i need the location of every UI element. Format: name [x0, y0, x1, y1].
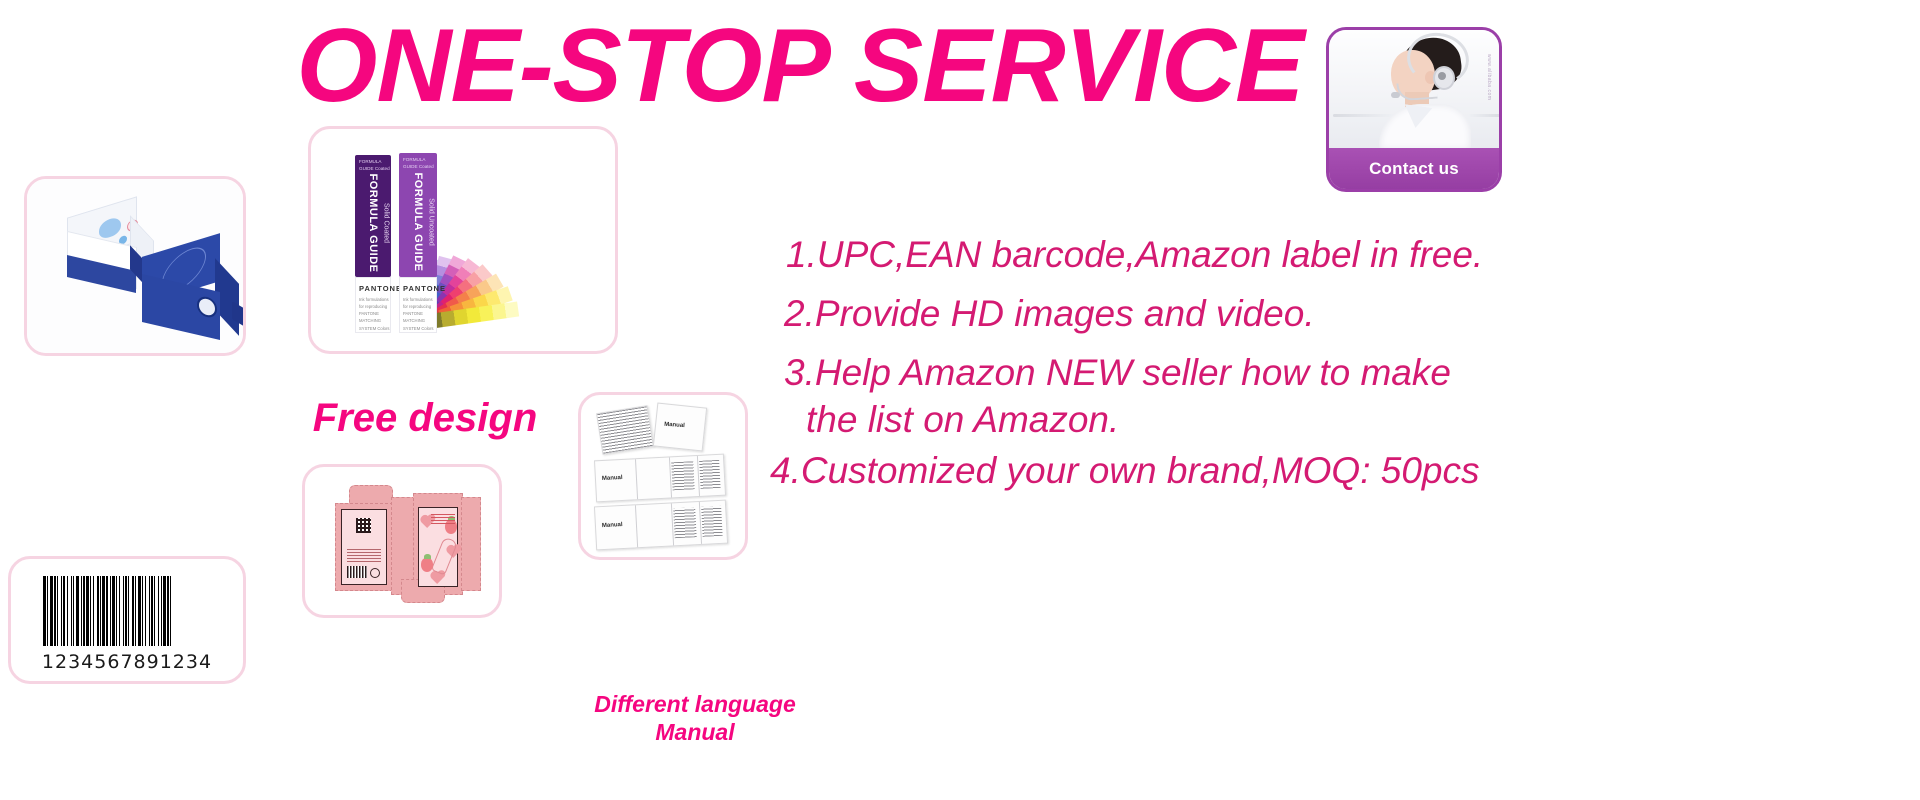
- pantone-fan-blades: [429, 149, 607, 337]
- pantone-coated-meta: Ink formulations for reproducing PANTONE…: [359, 296, 390, 332]
- barcode-bars: [43, 576, 215, 646]
- contact-us-card[interactable]: www.alibaba.com Contact us: [1326, 27, 1502, 192]
- headset-boom-icon: [1396, 81, 1437, 102]
- product-box-photo: [24, 176, 246, 356]
- dieline-qr-code: [356, 518, 371, 533]
- dieline-recycle-icon: [370, 568, 380, 578]
- manual-fold-word-2: Manual: [602, 522, 623, 529]
- dieline-strawberry-icon-2: [421, 558, 433, 572]
- contact-us-button[interactable]: Contact us: [1329, 148, 1499, 189]
- manual-caption: Different language Manual: [560, 690, 830, 746]
- headset-mic-icon: [1391, 92, 1400, 98]
- pantone-coated-footer: PANTONE Ink formulations for reproducing…: [355, 277, 391, 333]
- feature-item-2: 2.Provide HD images and video.: [784, 295, 1910, 332]
- contact-us-label: Contact us: [1369, 159, 1459, 179]
- barcode-number: 1234567891234: [11, 651, 243, 673]
- dieline-info-panel: [341, 509, 387, 585]
- service-feature-list: 1.UPC,EAN barcode,Amazon label in free. …: [770, 236, 1910, 489]
- pantone-brand-label: PANTONE: [359, 284, 402, 293]
- pantone-coated-title: FORMULA GUIDE: [367, 174, 379, 273]
- manual-cover-word: Manual: [664, 422, 685, 429]
- feature-item-4: 4.Customized your own brand,MOQ: 50pcs: [770, 452, 1910, 489]
- box-illustration: [27, 179, 243, 353]
- manual-fold-text-3: [673, 507, 697, 538]
- background-shelf-line-2: [1469, 114, 1501, 117]
- manual-fold-text-2: [699, 460, 720, 489]
- pantone-brand-label-2: PANTONE: [403, 284, 446, 293]
- pantone-uncoated-cap-note: FORMULA GUIDE Coated: [403, 157, 437, 171]
- pantone-coated-subtitle: Solid Coated: [383, 203, 390, 243]
- manual-caption-line2: Manual: [560, 718, 830, 746]
- customer-service-photo: www.alibaba.com: [1329, 30, 1499, 148]
- pantone-uncoated-title: FORMULA GUIDE: [412, 173, 424, 272]
- pantone-uncoated-footer: PANTONE Ink formulations for reproducing…: [399, 277, 437, 333]
- pantone-guide-uncoated: FORMULA GUIDE Coated FORMULA GUIDE Solid…: [399, 153, 437, 277]
- manual-cover: Manual: [653, 403, 707, 452]
- headset-earcup-inner: [1438, 72, 1446, 80]
- manual-folded-2: Manual: [594, 500, 728, 551]
- pantone-coated-cap-note: FORMULA GUIDE Coated: [359, 159, 391, 173]
- feature-item-3-cont: the list on Amazon.: [806, 401, 1910, 438]
- pantone-uncoated-meta: Ink formulations for reproducing PANTONE…: [403, 296, 436, 332]
- pantone-guide-coated: FORMULA GUIDE Coated FORMULA GUIDE Solid…: [355, 155, 391, 277]
- background-shelf-line-1: [1333, 114, 1393, 117]
- photo-watermark: www.alibaba.com: [1486, 54, 1492, 100]
- manual-caption-line1: Different language: [560, 690, 830, 718]
- packaging-dieline-photo: [302, 464, 502, 618]
- dieline-side-flap-2: [461, 497, 481, 591]
- dieline-info-text: [347, 548, 381, 562]
- barcode-label-card: 1234567891234: [8, 556, 246, 684]
- dieline-barcode: [347, 566, 367, 578]
- pantone-guide-photo: FORMULA GUIDE Coated FORMULA GUIDE Solid…: [308, 126, 618, 354]
- manual-fold-text-4: [701, 506, 723, 537]
- feature-item-1: 1.UPC,EAN barcode,Amazon label in free.: [786, 236, 1910, 273]
- manual-photo-card: Manual Manual Manual: [578, 392, 748, 560]
- pantone-uncoated-subtitle: Solid Uncoated: [428, 199, 435, 246]
- manual-inner-page: [596, 405, 654, 455]
- free-design-label: Free design: [305, 396, 545, 441]
- manual-fold-word-1: Manual: [602, 475, 623, 482]
- dieline-front-artwork-panel: [418, 507, 458, 587]
- manual-folded-1: Manual: [594, 454, 726, 503]
- manual-fold-text-1: [671, 461, 694, 490]
- feature-item-3: 3.Help Amazon NEW seller how to make: [784, 354, 1910, 391]
- dieline-front-title-text: [431, 514, 455, 524]
